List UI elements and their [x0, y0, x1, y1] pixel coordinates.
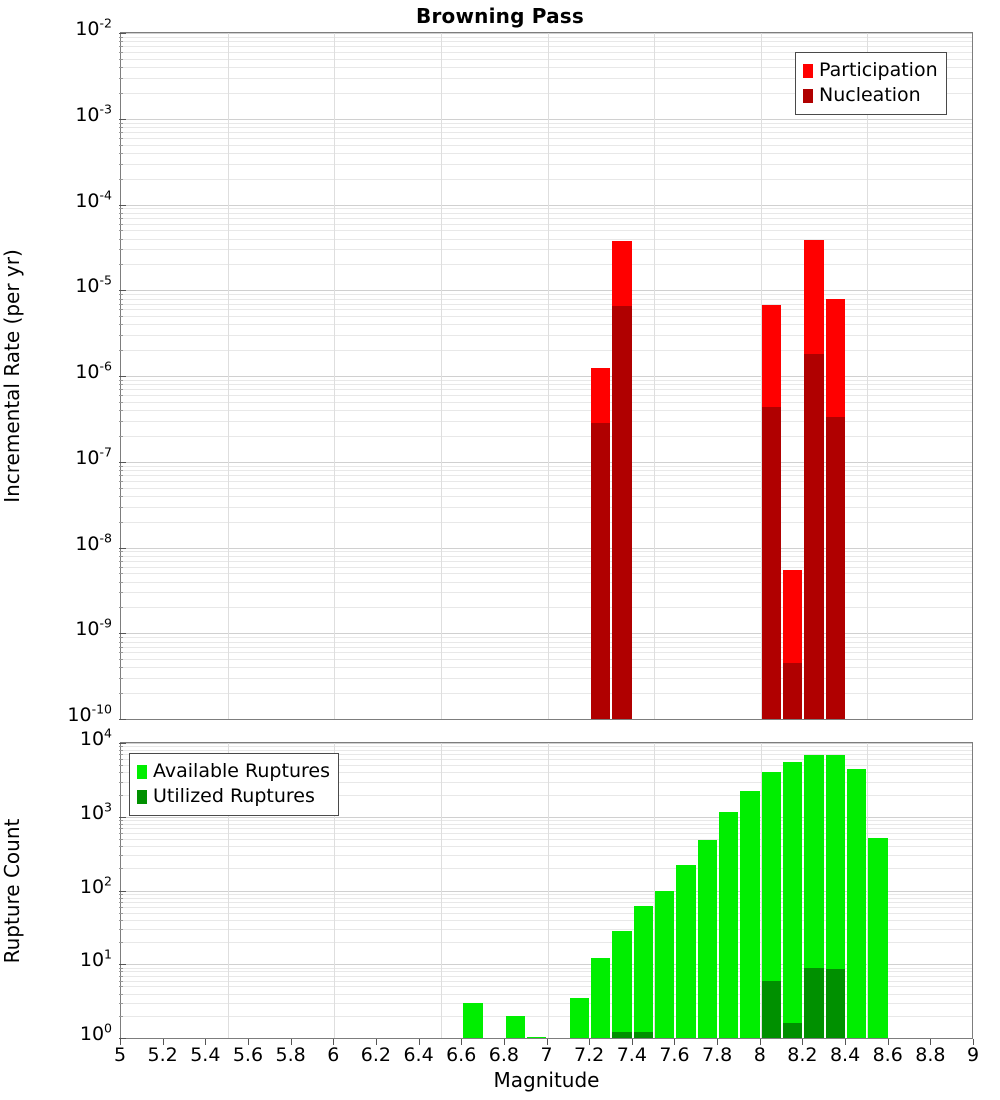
- y-tick-minor: [119, 466, 123, 467]
- y-tick-minor: [119, 230, 123, 231]
- y-tick-minor: [119, 1016, 123, 1017]
- y-tick-label: 104: [0, 730, 112, 749]
- page-title: Browning Pass: [0, 4, 1000, 28]
- gridline: [121, 127, 972, 128]
- bar-available-ruptures: [676, 865, 695, 1038]
- y-tick-minor: [119, 828, 123, 829]
- y-tick-minor: [119, 488, 123, 489]
- bar-available-ruptures: [527, 1037, 546, 1038]
- y-tick-minor: [119, 384, 123, 385]
- y-tick-minor: [119, 902, 123, 903]
- y-tick-minor: [119, 309, 123, 310]
- y-tick-minor: [119, 833, 123, 834]
- y-tick-minor: [119, 78, 123, 79]
- y-tick-minor: [119, 37, 123, 38]
- legend-swatch-icon: [137, 790, 147, 804]
- bar-nucleation: [612, 306, 631, 719]
- y-tick-minor: [119, 582, 123, 583]
- gridline: [121, 33, 972, 34]
- y-tick-label: 10-3: [0, 106, 112, 125]
- gridline-vertical: [228, 33, 229, 719]
- bar-available-ruptures: [591, 958, 610, 1038]
- y-tick-minor: [119, 551, 123, 552]
- gridline-vertical: [654, 33, 655, 719]
- legend-label: Participation: [819, 61, 938, 80]
- y-tick-minor: [119, 839, 123, 840]
- gridline: [121, 750, 972, 751]
- bar-available-ruptures: [740, 791, 759, 1038]
- gridline: [121, 294, 972, 295]
- gridline-vertical: [867, 33, 868, 719]
- gridline: [121, 132, 972, 133]
- y-tick-minor: [119, 573, 123, 574]
- y-tick-mark: [119, 119, 126, 120]
- gridline: [121, 746, 972, 747]
- bar-utilized-ruptures: [804, 968, 823, 1038]
- y-tick-mark: [119, 633, 126, 634]
- y-tick-minor: [119, 556, 123, 557]
- y-tick-minor: [119, 208, 123, 209]
- y-tick-minor: [119, 224, 123, 225]
- y-tick-minor: [119, 855, 123, 856]
- gridline: [121, 218, 972, 219]
- y-tick-minor: [119, 994, 123, 995]
- y-tick-minor: [119, 759, 123, 760]
- y-tick-minor: [119, 153, 123, 154]
- y-tick-minor: [119, 123, 123, 124]
- y-tick-minor: [119, 299, 123, 300]
- y-tick-minor: [119, 795, 123, 796]
- gridline: [121, 249, 972, 250]
- y-tick-minor: [119, 67, 123, 68]
- y-tick-minor: [119, 395, 123, 396]
- gridline: [121, 205, 972, 206]
- y-tick-minor: [119, 335, 123, 336]
- y-tick-minor: [119, 470, 123, 471]
- y-tick-mark: [119, 719, 126, 720]
- y-tick-minor: [119, 127, 123, 128]
- y-tick-minor: [119, 264, 123, 265]
- y-tick-minor: [119, 868, 123, 869]
- gridline-vertical: [334, 33, 335, 719]
- y-tick-minor: [119, 592, 123, 593]
- y-tick-mark: [119, 33, 126, 34]
- bar-available-ruptures: [634, 906, 653, 1038]
- bar-available-ruptures: [698, 840, 717, 1038]
- y-tick-minor: [119, 421, 123, 422]
- bar-available-ruptures: [868, 838, 887, 1038]
- gridline: [121, 230, 972, 231]
- legend-item: Available Ruptures: [137, 759, 330, 784]
- y-tick-minor: [119, 678, 123, 679]
- y-tick-minor: [119, 213, 123, 214]
- x-axis-label: Magnitude: [120, 1068, 973, 1092]
- y-tick-minor: [119, 750, 123, 751]
- gridline: [121, 119, 972, 120]
- y-tick-minor: [119, 132, 123, 133]
- bar-utilized-ruptures: [612, 1032, 631, 1038]
- bar-nucleation: [826, 417, 845, 719]
- y-tick-minor: [119, 52, 123, 53]
- x-tick-label: 9: [943, 1046, 1000, 1065]
- y-tick-minor: [119, 765, 123, 766]
- y-tick-mark: [119, 205, 126, 206]
- y-tick-minor: [119, 642, 123, 643]
- y-tick-minor: [119, 561, 123, 562]
- y-tick-minor: [119, 942, 123, 943]
- gridline: [121, 239, 972, 240]
- y-tick-minor: [119, 754, 123, 755]
- legend-rupture-count: Available RupturesUtilized Ruptures: [129, 753, 339, 816]
- y-tick-minor: [119, 436, 123, 437]
- bottom-panel-y-axis-label: Rupture Count: [0, 818, 24, 963]
- y-tick-label: 10-8: [0, 535, 112, 554]
- y-tick-minor: [119, 746, 123, 747]
- legend-item: Nucleation: [803, 83, 938, 108]
- y-tick-mark: [119, 548, 126, 549]
- y-tick-minor: [119, 567, 123, 568]
- gridline-vertical: [548, 743, 549, 1038]
- y-tick-minor: [119, 304, 123, 305]
- y-tick-label: 10-4: [0, 192, 112, 211]
- y-tick-minor: [119, 218, 123, 219]
- y-tick-minor: [119, 607, 123, 608]
- y-tick-minor: [119, 249, 123, 250]
- gridline: [121, 138, 972, 139]
- y-tick-minor: [119, 772, 123, 773]
- y-tick-minor: [119, 898, 123, 899]
- legend-item: Utilized Ruptures: [137, 784, 330, 809]
- y-tick-minor: [119, 41, 123, 42]
- y-tick-minor: [119, 402, 123, 403]
- gridline-vertical: [441, 743, 442, 1038]
- y-tick-minor: [119, 350, 123, 351]
- y-tick-minor: [119, 647, 123, 648]
- y-tick-minor: [119, 389, 123, 390]
- y-tick-minor: [119, 59, 123, 60]
- y-tick-minor: [119, 659, 123, 660]
- y-tick-minor: [119, 971, 123, 972]
- y-tick-minor: [119, 239, 123, 240]
- legend-incremental-rate: ParticipationNucleation: [795, 52, 947, 115]
- legend-label: Available Ruptures: [153, 762, 330, 781]
- y-tick-label: 10-2: [0, 20, 112, 39]
- bar-available-ruptures: [612, 931, 631, 1038]
- y-tick-minor: [119, 637, 123, 638]
- y-tick-minor: [119, 968, 123, 969]
- y-tick-mark: [119, 964, 126, 965]
- y-tick-minor: [119, 976, 123, 977]
- y-tick-mark: [119, 817, 126, 818]
- legend-item: Participation: [803, 58, 938, 83]
- y-tick-label: 10-10: [0, 706, 112, 725]
- y-tick-minor: [119, 522, 123, 523]
- legend-label: Utilized Ruptures: [153, 787, 315, 806]
- y-tick-mark: [119, 290, 126, 291]
- y-tick-minor: [119, 929, 123, 930]
- y-tick-minor: [119, 693, 123, 694]
- bar-available-ruptures: [570, 998, 589, 1038]
- y-tick-mark: [119, 462, 126, 463]
- gridline: [121, 224, 972, 225]
- y-tick-minor: [119, 986, 123, 987]
- y-tick-minor: [119, 824, 123, 825]
- incremental-rate-plot-area: [120, 32, 973, 720]
- gridline: [121, 123, 972, 124]
- gridline: [121, 37, 972, 38]
- gridline: [121, 41, 972, 42]
- y-tick-minor: [119, 294, 123, 295]
- bar-available-ruptures: [847, 769, 866, 1038]
- y-tick-mark: [119, 743, 126, 744]
- gridline: [121, 719, 972, 720]
- y-tick-minor: [119, 907, 123, 908]
- y-tick-mark: [119, 891, 126, 892]
- y-tick-minor: [119, 138, 123, 139]
- y-tick-mark: [119, 376, 126, 377]
- y-tick-minor: [119, 179, 123, 180]
- y-tick-minor: [119, 93, 123, 94]
- bar-nucleation: [591, 423, 610, 719]
- gridline: [121, 179, 972, 180]
- legend-swatch-icon: [803, 64, 813, 78]
- y-tick-minor: [119, 846, 123, 847]
- y-tick-minor: [119, 652, 123, 653]
- top-panel-y-axis-label: Incremental Rate (per yr): [0, 249, 24, 503]
- y-tick-minor: [119, 145, 123, 146]
- y-tick-label: 100: [0, 1025, 112, 1044]
- y-tick-label: 10-9: [0, 620, 112, 639]
- legend-label: Nucleation: [819, 86, 921, 105]
- y-tick-minor: [119, 164, 123, 165]
- gridline: [121, 46, 972, 47]
- y-tick-minor: [119, 913, 123, 914]
- y-tick-minor: [119, 820, 123, 821]
- bar-nucleation: [804, 354, 823, 719]
- gridline: [121, 145, 972, 146]
- gridline-vertical: [441, 33, 442, 719]
- y-tick-minor: [119, 920, 123, 921]
- y-tick-minor: [119, 481, 123, 482]
- y-tick-minor: [119, 496, 123, 497]
- y-tick-minor: [119, 316, 123, 317]
- y-tick-minor: [119, 46, 123, 47]
- gridline: [121, 213, 972, 214]
- y-tick-minor: [119, 1003, 123, 1004]
- bar-nucleation: [783, 663, 802, 719]
- bar-utilized-ruptures: [634, 1032, 653, 1038]
- bar-utilized-ruptures: [783, 1023, 802, 1038]
- y-tick-minor: [119, 894, 123, 895]
- bar-available-ruptures: [655, 891, 674, 1039]
- y-tick-minor: [119, 667, 123, 668]
- legend-swatch-icon: [803, 89, 813, 103]
- gridline: [121, 743, 972, 744]
- bar-nucleation: [762, 407, 781, 719]
- bar-utilized-ruptures: [826, 969, 845, 1038]
- gridline: [121, 264, 972, 265]
- y-tick-minor: [119, 475, 123, 476]
- bar-available-ruptures: [783, 762, 802, 1038]
- y-tick-minor: [119, 981, 123, 982]
- gridline: [121, 290, 972, 291]
- gridline-vertical: [548, 33, 549, 719]
- gridline: [121, 208, 972, 209]
- y-tick-minor: [119, 507, 123, 508]
- legend-swatch-icon: [137, 765, 147, 779]
- bar-available-ruptures: [719, 812, 738, 1038]
- y-tick-minor: [119, 410, 123, 411]
- bar-available-ruptures: [506, 1016, 525, 1038]
- y-tick-minor: [119, 324, 123, 325]
- bar-utilized-ruptures: [762, 981, 781, 1038]
- gridline: [121, 153, 972, 154]
- bar-available-ruptures: [463, 1003, 482, 1038]
- y-tick-minor: [119, 380, 123, 381]
- gridline: [121, 164, 972, 165]
- figure-canvas: Browning Pass 10-210-310-410-510-610-710…: [0, 0, 1000, 1100]
- y-tick-minor: [119, 782, 123, 783]
